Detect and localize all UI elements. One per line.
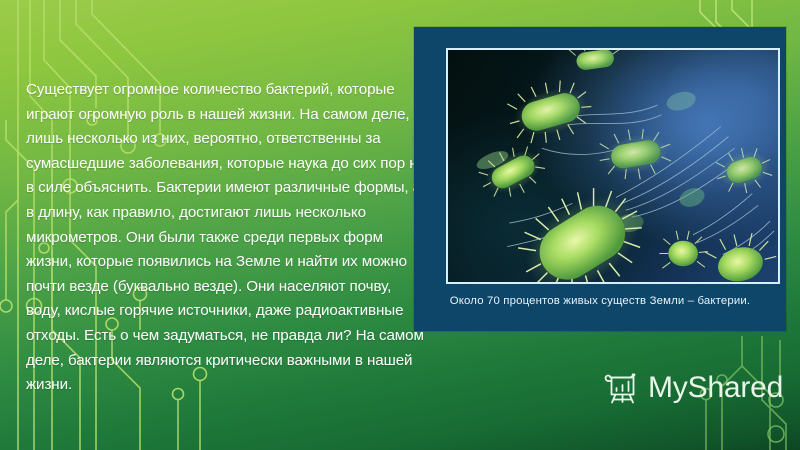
body-paragraph: Существует огромное количество бактерий,… — [26, 78, 426, 398]
presentation-slide: Существует огромное количество бактерий,… — [0, 0, 800, 450]
photo-frame — [446, 48, 780, 284]
picture-panel: Около 70 процентов живых существ Земли –… — [414, 27, 786, 331]
bacteria-illustration — [448, 50, 778, 282]
bacteria-photo — [448, 50, 778, 282]
myshared-logo[interactable]: MyShared — [603, 371, 783, 405]
slide-body-text: Существует огромное количество бактерий,… — [26, 78, 426, 398]
logo-text: MyShared — [648, 373, 783, 403]
picture-caption: Около 70 процентов живых существ Земли –… — [414, 295, 786, 307]
flipchart-bar-chart-icon — [603, 371, 639, 405]
